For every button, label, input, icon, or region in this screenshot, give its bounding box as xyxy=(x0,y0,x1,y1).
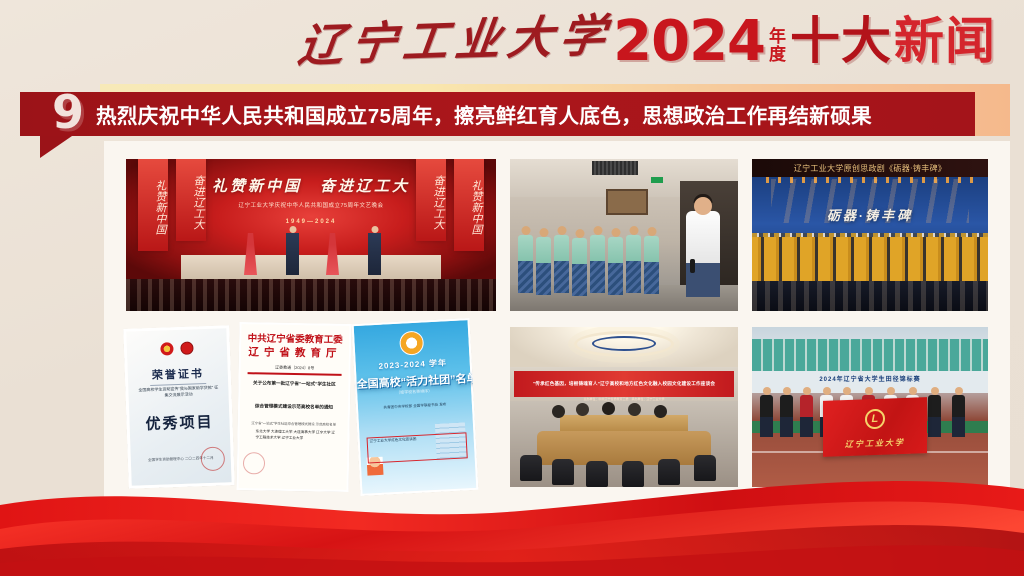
museum-visit-photo xyxy=(510,159,738,311)
poster-sheet: 2023-2024 学年 全国高校“活力社团”名单 （按学校名称排序） 共青团中… xyxy=(352,318,479,496)
content-panel: 礼赞新中国 奋进辽工大 奋进辽工大 礼赞新中国 礼赞新中国 奋进辽工大 辽宁工业… xyxy=(104,141,1010,525)
sports-venue-banner: 2024年辽宁省大学生田径锦标赛 xyxy=(752,374,988,383)
university-name-calligraphy: 辽宁工业大学 xyxy=(295,14,615,74)
attendee-head xyxy=(602,402,615,415)
athlete-figure xyxy=(760,395,773,437)
student-figure xyxy=(554,235,569,293)
document-sheet: 中共辽宁省委教育工委 辽宁省教育厅 辽委教通〔2024〕8号 关于公布第一批辽宁… xyxy=(237,322,352,492)
attendee-head xyxy=(552,405,565,418)
university-flag: L 辽宁工业大学 xyxy=(823,397,927,457)
attendee-head xyxy=(628,403,641,416)
document-divider xyxy=(248,372,342,375)
museum-picture-frame xyxy=(606,189,648,215)
student-figure xyxy=(572,238,587,296)
document-title-line2: 综合管理模式建设示范高校名单的通知 xyxy=(248,402,340,411)
drama-caption: 辽宁工业大学原创思政剧《砺器·铸丰碑》 xyxy=(752,159,988,177)
gala-side-banner-4: 礼赞新中国 xyxy=(454,159,484,251)
certificate-sheet: 荣誉证书 全国高校学生资助宣传“我与国家助学贷款” 征集交流展示活动 优秀项目 … xyxy=(123,325,235,489)
university-logo-icon: L xyxy=(865,409,885,430)
gala-performer-4 xyxy=(368,233,381,275)
certificate-title: 荣誉证书 xyxy=(128,364,228,383)
document-list-title: 辽宁省“一站式”学生社区综合管理模式建设 示范高校名单 xyxy=(240,420,348,427)
student-figure xyxy=(626,235,641,293)
stadium-stands xyxy=(752,339,988,371)
title-wrap: 辽宁工业大学 2024 年 度 十大 新闻 xyxy=(299,16,996,68)
gala-stage-photo: 礼赞新中国 奋进辽工大 奋进辽工大 礼赞新中国 礼赞新中国 奋进辽工大 辽宁工业… xyxy=(126,159,496,311)
conference-banner-text: “传承红色基因，培根铸魂育人”辽宁高校和地方红色文化融入校园文化建设工作座谈会 xyxy=(533,381,715,387)
speaker-figure xyxy=(686,211,720,297)
athlete-figure xyxy=(952,395,965,437)
microphone-icon xyxy=(690,259,695,273)
club-list-poster-photo: 2023-2024 学年 全国高校“活力社团”名单 （按学校名称排序） 共青团中… xyxy=(352,318,479,496)
document-number: 辽委教通〔2024〕8号 xyxy=(241,364,349,372)
news-label: 新闻 xyxy=(894,16,996,68)
document-title-line1: 关于公布第一批辽宁省“一站式”学生社区 xyxy=(248,379,340,388)
conference-banner: “传承红色基因，培根铸魂育人”辽宁高校和地方红色文化融入校园文化建设工作座谈会 xyxy=(514,371,734,397)
exit-sign-icon xyxy=(651,177,663,183)
top-ten-label: 十大 xyxy=(790,16,892,68)
drama-cast-row xyxy=(752,237,988,281)
ceiling-vent-icon xyxy=(592,161,638,175)
national-emblem-icon xyxy=(160,342,173,355)
drama-performance-photo: 砺器·铸丰碑 辽宁工业大学原创思政剧《砺器·铸丰碑》 xyxy=(752,159,988,311)
gala-performer-2 xyxy=(286,233,299,275)
athlete-figure xyxy=(780,395,793,437)
attendee-head xyxy=(576,403,589,416)
head-table xyxy=(560,415,688,431)
attendee-head xyxy=(654,405,667,418)
athlete-figure xyxy=(928,395,941,437)
ceiling-inner-ring xyxy=(592,336,656,351)
headline-banner: 9 热烈庆祝中华人民共和国成立75周年，擦亮鲜红育人底色，思想政治工作再结新硕果 xyxy=(20,92,975,136)
drama-stage-title: 砺器·铸丰碑 xyxy=(827,205,913,224)
athlete-figure xyxy=(800,395,813,437)
student-figure xyxy=(590,235,605,293)
certificate-body: 全国高校学生资助宣传“我与国家助学贷款” 征集交流展示活动 xyxy=(138,385,218,400)
year-suffix-bottom: 度 xyxy=(769,46,786,64)
page-title: 辽宁工业大学 2024 年 度 十大 新闻 xyxy=(0,4,1024,80)
document-list-items: 东北大学 大连理工大学 大连海事大学 辽宁大学 辽宁工程技术大学 辽宁工业大学 xyxy=(255,428,337,442)
headline-text: 热烈庆祝中华人民共和国成立75周年，擦亮鲜红育人底色，思想政治工作再结新硕果 xyxy=(96,99,872,129)
poster-body: 共青团中央学校部 全国学联秘书处 发布 xyxy=(368,401,462,412)
student-figure xyxy=(518,235,533,293)
conference-meeting-photo: “传承红色基因，培根铸魂育人”辽宁高校和地方红色文化融入校园文化建设工作座谈会 … xyxy=(510,327,738,487)
gala-audience xyxy=(126,279,496,311)
document-header-line2: 辽宁省教育厅 xyxy=(245,344,345,361)
year-suffix-top: 年 xyxy=(769,28,786,46)
honor-certificate-photo: 荣誉证书 全国高校学生资助宣传“我与国家助学贷款” 征集交流展示活动 优秀项目 … xyxy=(123,325,235,489)
photo-grid: 礼赞新中国 奋进辽工大 奋进辽工大 礼赞新中国 礼赞新中国 奋进辽工大 辽宁工业… xyxy=(104,141,1010,525)
gala-side-banner-1: 礼赞新中国 xyxy=(138,159,168,251)
certificate-emblems xyxy=(160,341,193,355)
gala-stage-subtitle: 辽宁工业大学庆祝中华人民共和国成立75周年文艺晚会 xyxy=(238,201,383,209)
year-suffix: 年 度 xyxy=(769,28,786,68)
student-figure xyxy=(644,236,659,294)
vitality-club-badge-icon xyxy=(399,330,424,355)
conference-banner-subtext: 主办单位：中共辽宁省委教育工委 承办单位：辽宁工业大学 xyxy=(510,397,738,401)
sports-team-photo: 2024年辽宁省大学生田径锦标赛 L 辽宁工业大学 xyxy=(752,327,988,487)
gala-side-banner-2: 奋进辽工大 xyxy=(176,159,206,241)
gala-stage-title: 礼赞新中国 奋进辽工大 xyxy=(212,175,410,196)
gala-stage-floor xyxy=(181,255,441,281)
student-figure xyxy=(536,237,551,295)
year-number: 2024 xyxy=(613,16,765,68)
rank-number: 9 xyxy=(52,90,84,134)
gala-stage-years: 1949—2024 xyxy=(286,219,337,225)
drama-audience xyxy=(752,281,988,311)
red-stamp-icon xyxy=(200,446,225,471)
certificate-award: 优秀项目 xyxy=(129,410,230,434)
red-silk-ribbon xyxy=(0,471,1024,576)
org-seal-icon xyxy=(180,341,193,354)
gala-side-banner-3: 奋进辽工大 xyxy=(416,159,446,241)
student-figure xyxy=(608,237,623,295)
official-document-photo: 中共辽宁省委教育工委 辽宁省教育厅 辽委教通〔2024〕8号 关于公布第一批辽宁… xyxy=(237,322,352,492)
university-flag-text: 辽宁工业大学 xyxy=(823,436,927,451)
